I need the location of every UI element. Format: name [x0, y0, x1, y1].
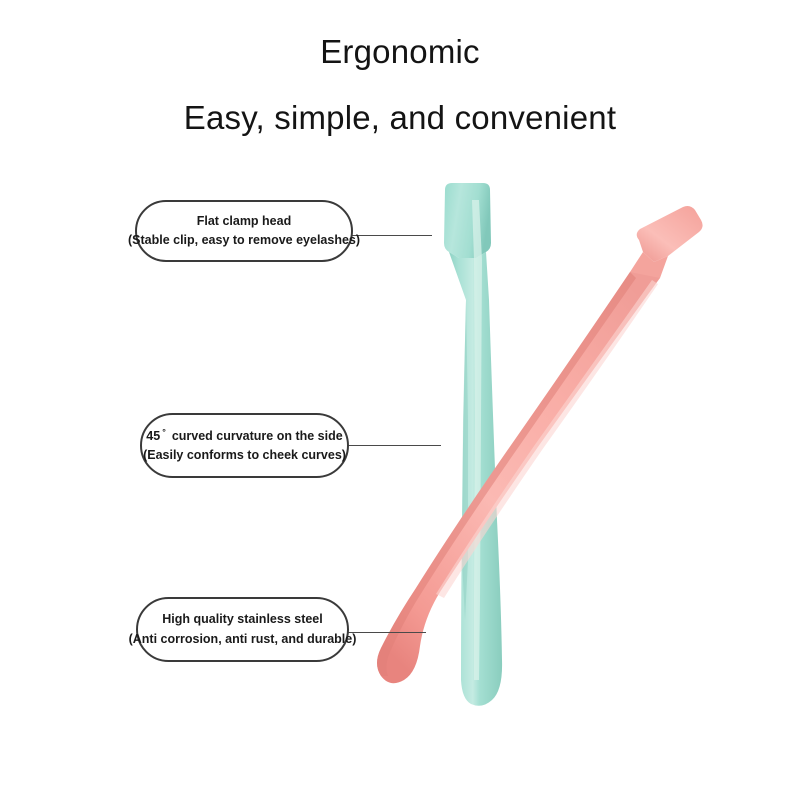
callout-title-text: curved curvature on the side — [172, 429, 343, 443]
callout-detail: (Easily conforms to cheek curves) — [143, 446, 346, 465]
callout-title: 45°curved curvature on the side — [146, 426, 342, 447]
callout-detail: (Anti corrosion, anti rust, and durable) — [129, 630, 357, 649]
mint-tweezer-shape — [444, 183, 502, 706]
page-subtitle: Easy, simple, and convenient — [0, 100, 800, 136]
callout-title: Flat clamp head — [197, 212, 291, 231]
page-title: Ergonomic — [0, 34, 800, 70]
leader-line-flat-clamp-head — [352, 235, 432, 236]
infographic-canvas: Ergonomic Easy, simple, and convenient — [0, 0, 800, 800]
degree-symbol-icon: ° — [160, 427, 172, 437]
leader-line-stainless-steel — [348, 632, 426, 633]
callout-curved-curvature: 45°curved curvature on the side (Easily … — [140, 413, 349, 478]
leader-line-curved-curvature — [348, 445, 441, 446]
callout-value: 45 — [146, 429, 160, 443]
callout-flat-clamp-head: Flat clamp head (Stable clip, easy to re… — [135, 200, 353, 262]
callout-title: High quality stainless steel — [162, 610, 322, 629]
callout-detail: (Stable clip, easy to remove eyelashes) — [128, 231, 360, 250]
callout-stainless-steel: High quality stainless steel (Anti corro… — [136, 597, 349, 662]
